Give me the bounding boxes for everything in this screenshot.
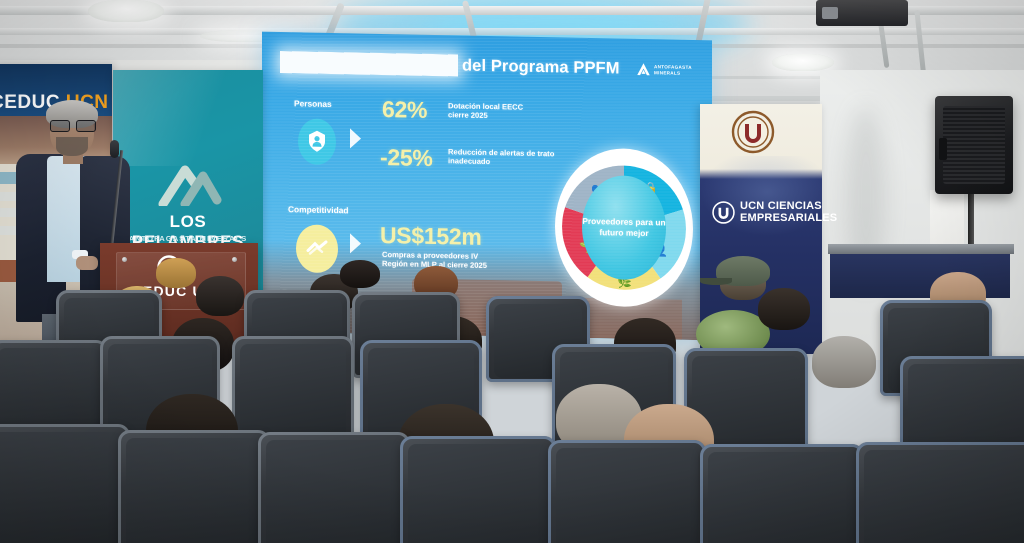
slide-title: del Programa PPFM — [462, 57, 620, 79]
wheel-center-text: Proveedores para un futuro mejor — [582, 216, 666, 240]
ucn-crest-icon — [731, 110, 775, 154]
banner-ucn-text: UCN CIENCIAS EMPRESARIALES — [740, 200, 837, 224]
chair-seatback — [240, 344, 346, 444]
presenter-eyeglasses — [50, 120, 95, 130]
chair — [258, 432, 410, 543]
chair-seatback — [126, 438, 262, 543]
audience-head — [812, 336, 876, 388]
stat-value-62: 62% — [382, 96, 427, 124]
audience-head — [758, 288, 810, 330]
audience-area — [0, 244, 1024, 543]
cap-brim — [700, 278, 732, 285]
chair — [118, 430, 270, 543]
chair-seatback — [556, 448, 698, 543]
stat-desc-minus25: Reducción de alertas de trato inadecuado — [448, 147, 566, 168]
ucn-crest-small-icon — [712, 201, 735, 224]
chair — [700, 444, 864, 543]
projector-glare-block — [280, 51, 458, 76]
slide-category-competitividad: Competitividad — [288, 204, 349, 215]
antofagasta-triangle-icon — [636, 62, 651, 77]
chair-seatback — [266, 440, 402, 543]
audience-head — [156, 258, 196, 288]
banner-lp-sheen — [113, 70, 263, 166]
stat-value-minus25: -25% — [380, 144, 433, 172]
banner-lp-subtitle: ANTOFAGASTA MINERALS — [113, 234, 263, 243]
chair-seatback — [708, 452, 856, 543]
arrow-icon-personas — [350, 128, 361, 148]
audience-head — [340, 260, 380, 288]
chair — [400, 436, 556, 543]
people-shield-glyph — [307, 130, 327, 154]
presenter-beard — [56, 137, 88, 156]
ceiling-beam — [0, 28, 1024, 35]
speaker-port — [939, 138, 947, 160]
banner-ucn-line2: EMPRESARIALES — [740, 212, 837, 224]
slide-category-personas: Personas — [294, 98, 332, 109]
ceiling-projector — [816, 0, 908, 26]
pa-loudspeaker — [935, 96, 1013, 194]
speaker-grill — [943, 106, 1005, 184]
chair — [548, 440, 706, 543]
los-pelambres-chevron-logo — [155, 162, 225, 206]
antofagasta-minerals-wordmark: ANTOFAGASTA MINERALS — [654, 64, 692, 76]
chair — [0, 424, 130, 543]
microphone — [110, 140, 119, 158]
banner-ucn-globe-graphic — [700, 156, 822, 236]
eyeglass-lens-right — [76, 120, 96, 132]
chair-seatback — [408, 444, 548, 543]
stat-desc-62: Dotación local EECC cierre 2025 — [448, 101, 544, 122]
chair-seatback — [0, 432, 122, 543]
ceiling-light — [88, 0, 164, 22]
ceiling-light — [772, 54, 834, 71]
eyeglass-lens-left — [50, 120, 70, 132]
presentation-photo-scene: del Programa PPFM ANTOFAGASTA MINERALS P… — [0, 0, 1024, 543]
chair-seatback — [864, 450, 1024, 543]
banner-ucn-line1: UCN CIENCIAS — [740, 200, 837, 212]
banner-ucn-wordmark: UCN CIENCIAS EMPRESARIALES — [712, 200, 837, 224]
projector-lens — [822, 7, 838, 19]
people-shield-icon — [298, 118, 336, 165]
chair — [856, 442, 1024, 543]
antofagasta-minerals-logo: ANTOFAGASTA MINERALS — [636, 62, 692, 78]
audience-head — [196, 276, 244, 316]
